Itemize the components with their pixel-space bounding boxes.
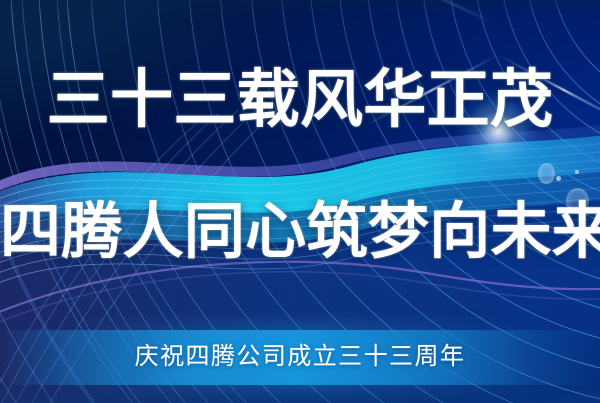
lens-flare-dot xyxy=(575,170,579,174)
top-edge-shade xyxy=(0,0,600,14)
bottom-edge-shade xyxy=(0,383,600,403)
lens-flare-dot xyxy=(538,163,555,184)
subtitle-text: 庆祝四腾公司成立三十三周年 xyxy=(0,340,600,374)
anniversary-banner: 三十三载风华正茂 四腾人同心筑梦向未来 庆祝四腾公司成立三十三周年 xyxy=(0,0,600,403)
headline-line-2: 四腾人同心筑梦向未来 xyxy=(0,196,600,266)
headline-line-1: 三十三载风华正茂 xyxy=(0,64,600,136)
lens-flare-dot xyxy=(556,176,561,181)
